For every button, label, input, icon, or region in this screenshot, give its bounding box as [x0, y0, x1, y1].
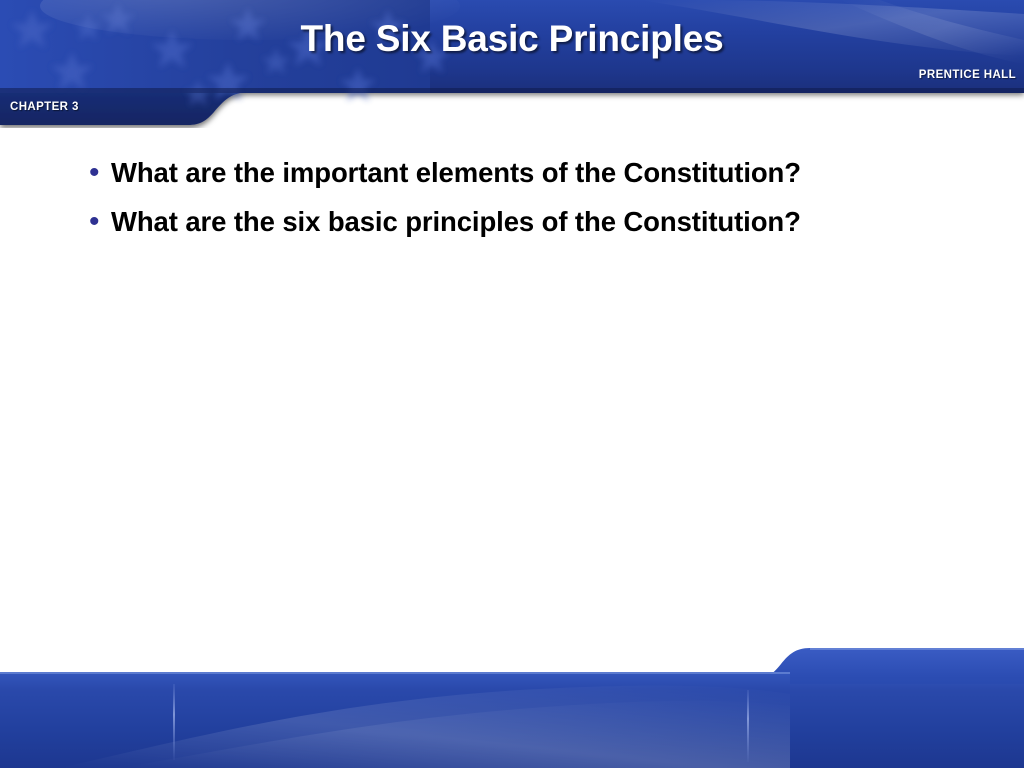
- footer-top-highlight: [0, 672, 790, 674]
- list-item: • What are the six basic principles of t…: [78, 201, 818, 242]
- slide-header: The Six Basic Principles PRENTICE HALL C…: [0, 0, 1024, 128]
- bullet-text: What are the six basic principles of the…: [111, 201, 818, 242]
- bullet-text: What are the important elements of the C…: [111, 152, 818, 193]
- bullet-icon: •: [78, 201, 111, 242]
- bullet-icon: •: [78, 152, 111, 193]
- footer-background: [0, 640, 1024, 768]
- slide-footer: MAIN MENU 1 2 3 SECTION: [0, 640, 1024, 768]
- footer-tab-highlight: [810, 648, 1024, 650]
- page-title: The Six Basic Principles: [0, 18, 1024, 60]
- header-baseline: [0, 88, 1024, 93]
- chapter-label: CHAPTER 3: [10, 101, 79, 113]
- slide: The Six Basic Principles PRENTICE HALL C…: [0, 0, 1024, 768]
- footer-divider-left: [173, 684, 175, 760]
- list-item: • What are the important elements of the…: [78, 152, 818, 193]
- footer-divider-right: [747, 690, 749, 762]
- slide-content: • What are the important elements of the…: [78, 152, 818, 250]
- publisher-brand: PRENTICE HALL: [919, 69, 1016, 81]
